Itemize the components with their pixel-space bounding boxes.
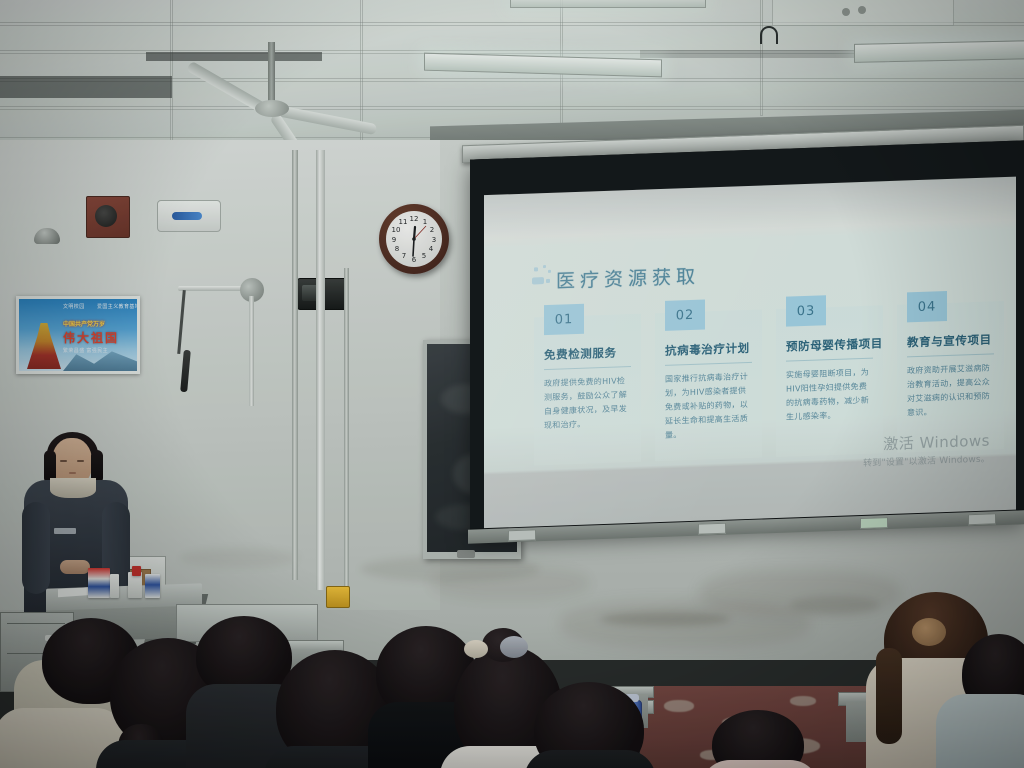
sparkle-decoration-icon xyxy=(532,265,558,286)
watermark-line-1: 激活 Windows xyxy=(863,430,990,455)
ceiling xyxy=(0,0,1024,150)
student-bun-8 xyxy=(912,618,946,646)
card-divider xyxy=(907,353,994,357)
poster-line-left: 文明校园 xyxy=(63,303,85,310)
wall-conduit-2 xyxy=(344,268,349,588)
mount-arm-vertical xyxy=(249,296,254,406)
clock-face: 1212 345 678 91011 xyxy=(386,211,442,267)
wall-speaker xyxy=(86,196,130,238)
poster-headline: 中国共产党万岁 xyxy=(63,319,105,328)
wall-conduit-1 xyxy=(292,150,298,580)
student-jacket-lightblue xyxy=(936,694,1024,768)
card-heading: 预防母婴传播项目 xyxy=(786,335,883,354)
slide-card-01: 01 免费检测服务 政府提供免费的HIV检测服务，鼓励公众了解自身健康状况，及早… xyxy=(534,314,641,466)
fluorescent-light-right xyxy=(854,40,1024,63)
dome-camera xyxy=(34,228,60,244)
card-divider xyxy=(544,366,631,370)
svg-text:2: 2 xyxy=(430,226,434,234)
student-jacket-pink xyxy=(700,760,820,768)
svg-text:3: 3 xyxy=(432,236,436,244)
card-body: 实施母婴阻断项目，为HIV阳性孕妇提供免费的抗病毒药物，减少新生儿感染率。 xyxy=(786,366,875,425)
hair-scrunchie-grey xyxy=(500,636,528,658)
card-divider xyxy=(786,358,873,362)
wall-poster: 文明校园 爱国主义教育基地 中国共产党万岁 伟大祖国 繁荣昌盛 富强民主 xyxy=(16,296,140,374)
presenter-collar xyxy=(50,478,96,498)
card-body: 政府资助开展艾滋病防治教育活动，提高公众对艾滋病的认识和预防意识。 xyxy=(907,361,996,420)
poster-big-text: 伟大祖国 xyxy=(63,329,119,346)
screen-surface: 医疗资源获取 01 免费检测服务 政府提供免费的HIV检测服务，鼓励公众了解自身… xyxy=(484,177,1016,529)
card-number-badge: 02 xyxy=(665,299,705,330)
jacket-logo xyxy=(54,528,76,534)
card-heading: 抗病毒治疗计划 xyxy=(665,340,750,359)
wall-pipe-1 xyxy=(316,150,325,590)
wall-clock: 1212 345 678 91011 xyxy=(379,204,449,274)
presenter-hands xyxy=(60,560,90,574)
card-divider xyxy=(665,362,752,366)
svg-text:8: 8 xyxy=(395,245,399,253)
fluorescent-light-topcenter xyxy=(510,0,706,8)
svg-text:9: 9 xyxy=(392,236,396,244)
card-number-badge: 01 xyxy=(544,304,584,335)
svg-text:10: 10 xyxy=(392,226,401,234)
windows-activation-watermark: 激活 Windows 转到"设置"以激活 Windows。 xyxy=(863,430,990,469)
audience-row-front xyxy=(0,590,1024,768)
svg-text:4: 4 xyxy=(429,245,434,253)
card-heading: 教育与宣传项目 xyxy=(907,331,992,350)
svg-text:5: 5 xyxy=(422,252,426,260)
slide-card-02: 02 抗病毒治疗计划 国家推行抗病毒治疗计划，为HIV感染者提供免费或补贴的药物… xyxy=(655,309,762,461)
projection-screen: 医疗资源获取 01 免费检测服务 政府提供免费的HIV检测服务，鼓励公众了解自身… xyxy=(470,140,1024,537)
svg-text:6: 6 xyxy=(412,256,417,264)
poster-line-right: 爱国主义教育基地 xyxy=(97,303,140,310)
card-number-badge: 03 xyxy=(786,295,826,326)
hair-clip-cream xyxy=(464,640,488,658)
student-jacket-dark-4 xyxy=(524,750,656,768)
poster-sub-text: 繁荣昌盛 富强民主 xyxy=(63,347,108,354)
card-heading: 免费检测服务 xyxy=(544,345,617,364)
control-box[interactable] xyxy=(157,200,221,232)
card-body: 国家推行抗病毒治疗计划，为HIV感染者提供免费或补贴的药物，以延长生命和提高生活… xyxy=(665,370,754,443)
card-body: 政府提供免费的HIV检测服务，鼓励公众了解自身健康状况，及早发现和治疗。 xyxy=(544,374,633,433)
card-number-badge: 04 xyxy=(907,291,947,322)
ceiling-hook xyxy=(760,26,778,44)
medicine-box-red-small xyxy=(132,566,141,576)
svg-text:11: 11 xyxy=(399,218,408,226)
control-box-badge xyxy=(172,212,202,220)
slide-content: 医疗资源获取 01 免费检测服务 政府提供免费的HIV检测服务，鼓励公众了解自身… xyxy=(498,239,1008,484)
presenter-left-arm xyxy=(22,502,50,594)
svg-text:12: 12 xyxy=(410,215,419,223)
svg-text:7: 7 xyxy=(402,252,406,260)
svg-text:1: 1 xyxy=(423,218,427,226)
slide-title: 医疗资源获取 xyxy=(556,262,700,294)
classroom-photo: 文明校园 爱国主义教育基地 中国共产党万岁 伟大祖国 繁荣昌盛 富强民主 121… xyxy=(0,0,1024,768)
chalk-tray xyxy=(457,550,475,558)
